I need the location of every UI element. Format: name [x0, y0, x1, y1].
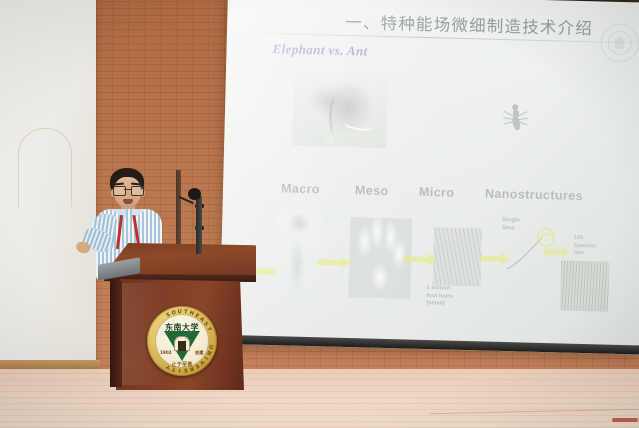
- white-column: [0, 0, 96, 376]
- emblem-motto: 止于至善: [162, 361, 202, 368]
- glasses-lens-right: [131, 186, 144, 196]
- annotation-foot-hairs: 1 million foot hairs (setae): [426, 285, 453, 308]
- scale-label-nanostructures: Nanostructures: [485, 187, 583, 203]
- glasses-icon: [113, 186, 142, 194]
- glasses-lens-left: [113, 186, 126, 196]
- emblem-building-icon: [174, 336, 190, 351]
- scale-label-row: Macro Meso Micro Nanostructures: [223, 180, 639, 213]
- podium: SOUTHEAST UNIVERSITY 东南大学 1902 创建 止于至善: [104, 243, 256, 390]
- floor: [0, 369, 639, 428]
- elephant-photo: [292, 72, 388, 148]
- gecko-adhesion-pipeline: 1 million foot hairs (setae) Single Seta…: [254, 209, 616, 316]
- arrow-connector: [317, 256, 351, 268]
- foreground-bush: [320, 128, 342, 145]
- scale-label-meso: Meso: [355, 183, 389, 198]
- gecko-photo: [274, 211, 322, 304]
- presentation-photo-scene: 一、特种能场微细制造技术介绍 Elephant vs. Ant Macro Me…: [0, 0, 639, 428]
- toe-pad-setae-micrograph: [433, 227, 482, 286]
- microphone-head-icon: [188, 188, 201, 200]
- slide-title: 一、特种能场微细制造技术介绍: [345, 9, 593, 39]
- glasses-bridge: [124, 189, 131, 190]
- elephant-tusk: [344, 114, 376, 134]
- floor-red-marker: [612, 418, 638, 422]
- spatulae-sem-micrograph: [560, 261, 609, 312]
- university-emblem: SOUTHEAST UNIVERSITY 东南大学 1902 创建 止于至善: [147, 306, 217, 376]
- arrow-connector: [255, 267, 277, 277]
- emblem-year: 1902: [160, 350, 172, 355]
- column-mark: [18, 128, 72, 207]
- slide-subtitle: Elephant vs. Ant: [272, 41, 368, 59]
- annotation-spatular-tips: 100 Spatular tips: [573, 235, 597, 258]
- podium-left-side: [110, 281, 122, 387]
- ant-photo: [496, 101, 541, 142]
- annotation-single-seta: Single Seta: [502, 217, 520, 233]
- microphone-stand: [196, 196, 202, 254]
- scale-label-macro: Macro: [281, 181, 320, 196]
- gecko-foot-photo: [348, 217, 412, 299]
- projection-screen: 一、特种能场微细制造技术介绍 Elephant vs. Ant Macro Me…: [219, 0, 639, 355]
- gecko-toes: [348, 217, 412, 299]
- southeast-university-watermark-icon: [600, 23, 639, 62]
- emblem-year-right: 创建: [195, 350, 203, 356]
- scale-label-micro: Micro: [419, 185, 455, 200]
- column-base: [0, 360, 100, 369]
